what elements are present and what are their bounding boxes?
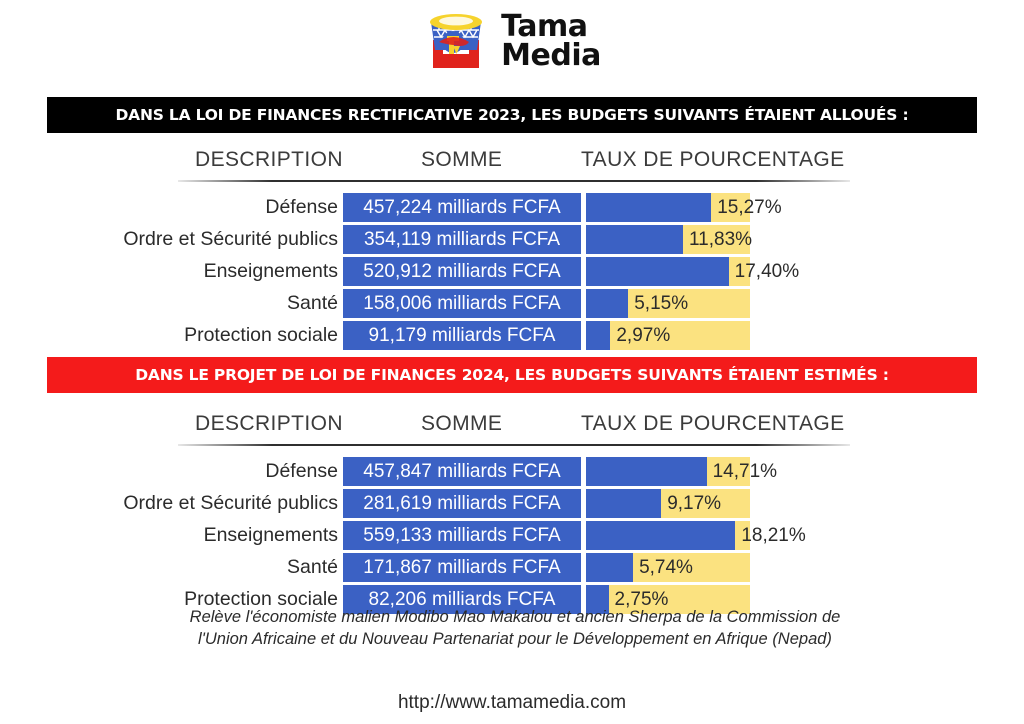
row-percentage-fill [586, 553, 633, 582]
row-percentage-track: 11,83% [586, 225, 750, 254]
brand-wordmark: Tama Media [501, 12, 601, 71]
section2-rows: Défense457,847 milliards FCFA14,71%Ordre… [0, 457, 1024, 617]
brand-name-line2: Media [501, 41, 601, 70]
table-row: Défense457,847 milliards FCFA14,71% [0, 457, 1024, 486]
row-percentage-label: 11,83% [683, 225, 752, 254]
row-somme-bar: 457,847 milliards FCFA [343, 457, 581, 486]
footnote: Relève l'économiste malien Modibo Mao Ma… [150, 606, 880, 651]
row-percentage-fill [586, 257, 729, 286]
row-percentage-track: 5,74% [586, 553, 750, 582]
table-row: Ordre et Sécurité publics281,619 milliar… [0, 489, 1024, 518]
row-percentage-fill [586, 193, 711, 222]
row-percentage-label: 18,21% [735, 521, 805, 550]
row-description-label: Défense [265, 457, 338, 486]
row-description-label: Ordre et Sécurité publics [123, 225, 338, 254]
row-percentage-fill [586, 289, 628, 318]
row-description-label: Protection sociale [184, 321, 338, 350]
row-description-label: Enseignements [204, 521, 338, 550]
row-percentage-fill [586, 225, 683, 254]
row-description-label: Santé [287, 289, 338, 318]
footnote-line-1: Relève l'économiste malien Modibo Mao Ma… [150, 606, 880, 628]
header-divider [178, 444, 850, 446]
row-percentage-track: 15,27% [586, 193, 750, 222]
row-somme-bar: 354,119 milliards FCFA [343, 225, 581, 254]
row-percentage-track: 5,15% [586, 289, 750, 318]
row-percentage-label: 9,17% [661, 489, 721, 518]
row-percentage-fill [586, 321, 610, 350]
section1-rows: Défense457,224 milliards FCFA15,27%Ordre… [0, 193, 1024, 353]
row-somme-bar: 171,867 milliards FCFA [343, 553, 581, 582]
table-row: Enseignements559,133 milliards FCFA18,21… [0, 521, 1024, 550]
table-row: Santé158,006 milliards FCFA5,15% [0, 289, 1024, 318]
row-percentage-label: 17,40% [729, 257, 799, 286]
row-percentage-track: 18,21% [586, 521, 750, 550]
table-row: Défense457,224 milliards FCFA15,27% [0, 193, 1024, 222]
row-somme-bar: 91,179 milliards FCFA [343, 321, 581, 350]
section1-table-header: DESCRIPTION SOMME TAUX DE POURCENTAGE [178, 148, 850, 186]
row-somme-bar: 281,619 milliards FCFA [343, 489, 581, 518]
header-taux: TAUX DE POURCENTAGE [581, 412, 845, 436]
table-row: Protection sociale91,179 milliards FCFA2… [0, 321, 1024, 350]
row-percentage-fill [586, 521, 735, 550]
row-percentage-label: 2,97% [610, 321, 670, 350]
row-somme-bar: 520,912 milliards FCFA [343, 257, 581, 286]
header-somme: SOMME [421, 148, 502, 172]
row-percentage-track: 9,17% [586, 489, 750, 518]
row-description-label: Enseignements [204, 257, 338, 286]
table-row: Santé171,867 milliards FCFA5,74% [0, 553, 1024, 582]
tama-drum-logo-icon [423, 10, 489, 72]
row-percentage-label: 14,71% [707, 457, 777, 486]
row-somme-bar: 559,133 milliards FCFA [343, 521, 581, 550]
footnote-line-2: l'Union Africaine et du Nouveau Partenar… [150, 628, 880, 650]
header-description: DESCRIPTION [195, 412, 343, 436]
section1-banner: DANS LA LOI DE FINANCES RECTIFICATIVE 20… [47, 97, 977, 133]
header-somme: SOMME [421, 412, 502, 436]
section2-banner: DANS LE PROJET DE LOI DE FINANCES 2024, … [47, 357, 977, 393]
site-url: http://www.tamamedia.com [0, 692, 1024, 714]
row-percentage-fill [586, 457, 707, 486]
brand-name-line1: Tama [501, 12, 601, 41]
row-somme-bar: 158,006 milliards FCFA [343, 289, 581, 318]
row-description-label: Ordre et Sécurité publics [123, 489, 338, 518]
section2-table-header: DESCRIPTION SOMME TAUX DE POURCENTAGE [178, 412, 850, 450]
header-description: DESCRIPTION [195, 148, 343, 172]
row-percentage-label: 15,27% [711, 193, 781, 222]
header-divider [178, 180, 850, 182]
table-row: Ordre et Sécurité publics354,119 milliar… [0, 225, 1024, 254]
row-somme-bar: 457,224 milliards FCFA [343, 193, 581, 222]
row-percentage-label: 5,74% [633, 553, 693, 582]
header-taux: TAUX DE POURCENTAGE [581, 148, 845, 172]
row-percentage-track: 17,40% [586, 257, 750, 286]
row-description-label: Santé [287, 553, 338, 582]
table-row: Enseignements520,912 milliards FCFA17,40… [0, 257, 1024, 286]
row-description-label: Défense [265, 193, 338, 222]
brand-header: Tama Media [0, 6, 1024, 76]
row-percentage-track: 14,71% [586, 457, 750, 486]
row-percentage-fill [586, 489, 661, 518]
row-percentage-track: 2,97% [586, 321, 750, 350]
row-percentage-label: 5,15% [628, 289, 688, 318]
